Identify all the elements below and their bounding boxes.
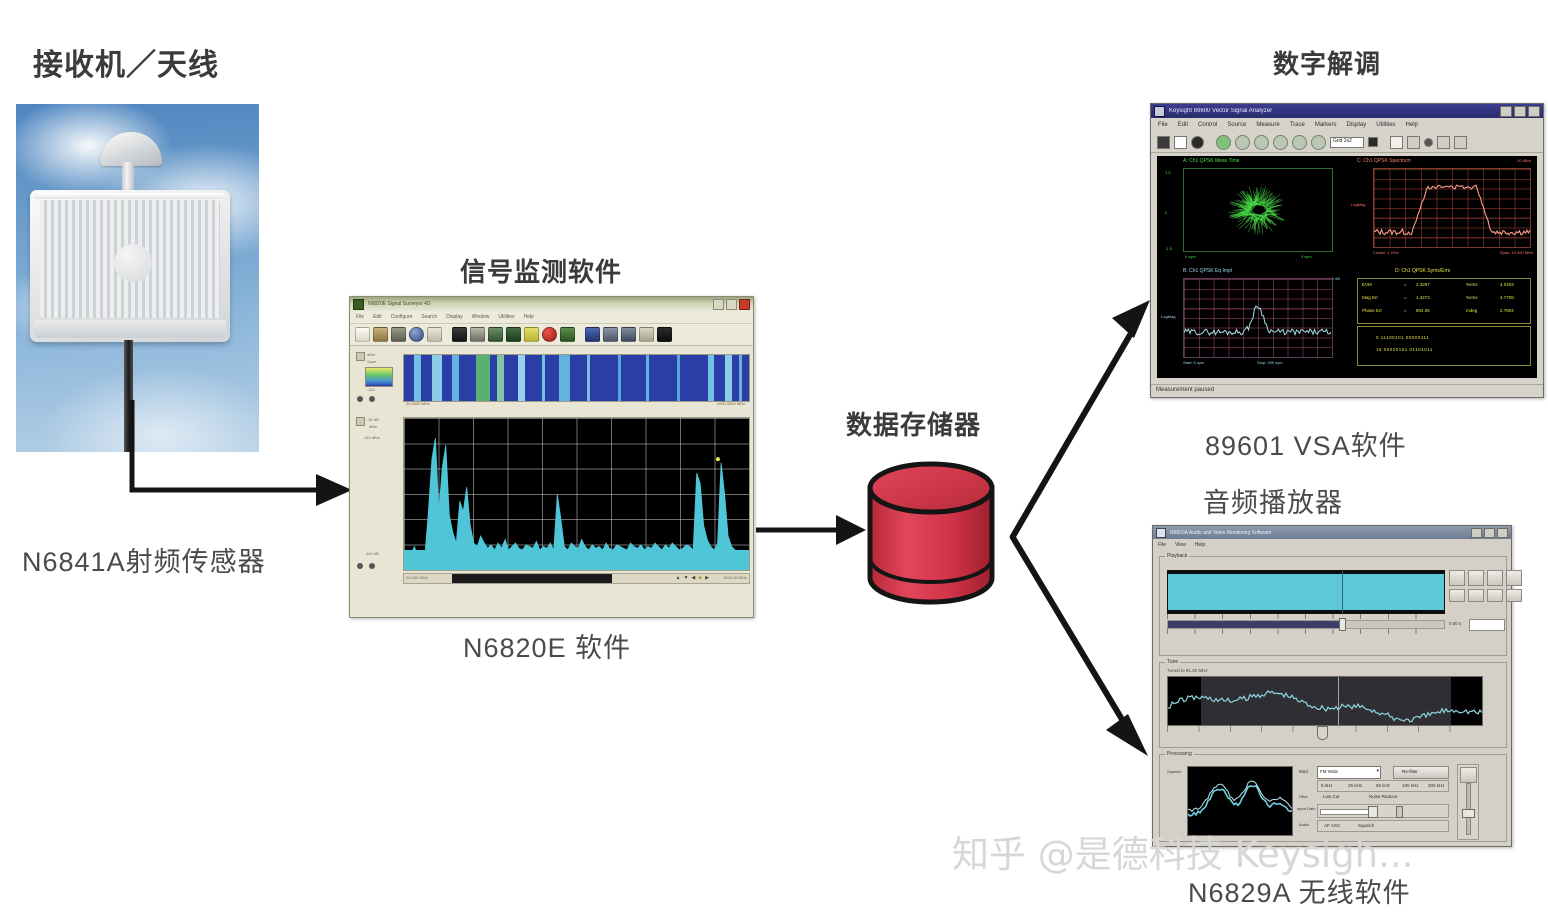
waterfall-signal-stripe — [739, 355, 742, 401]
waterfall-signal-stripe — [432, 355, 442, 401]
minimize-button[interactable] — [713, 299, 724, 310]
tune-group-label: Tune — [1165, 659, 1180, 665]
label-n6841a-rf-sensor: N6841A射频传感器 — [22, 540, 266, 579]
n6820e-statusbar[interactable]: 20.000 MHz ▲ ▼ ◀ ◆ ▶ 1000.00 MHz — [403, 573, 750, 584]
waterfall-display[interactable] — [403, 354, 750, 402]
save-icon[interactable] — [391, 327, 406, 342]
vsa-b-xstop: Stop: 200 sym — [1257, 360, 1283, 365]
bw-opt-4[interactable]: 200 kHz — [1428, 783, 1445, 788]
title-signal-monitoring-software: 信号监测软件 — [460, 252, 622, 289]
rewind-icon[interactable] — [1449, 570, 1465, 586]
n6820e-toolbar[interactable] — [350, 324, 753, 346]
flag-icon[interactable] — [524, 327, 539, 342]
playback-time-left: 0.00 s — [1449, 621, 1461, 626]
playback-ruler-2 — [1167, 629, 1443, 634]
filter-opt-0[interactable]: Low Cut — [1323, 794, 1340, 799]
vsa-a-ylabel-mid: 0 — [1165, 210, 1167, 215]
processing-squelch-label: Squelch — [1167, 769, 1181, 774]
waterfall-freq-start: 20.0000 MHz — [406, 401, 430, 411]
cable-arrow-sensor-to-n6820e — [100, 400, 360, 540]
waterfall-signal-stripe — [497, 355, 504, 401]
processing-refilter-button[interactable]: Re-filter — [1393, 766, 1449, 779]
vsa-c-ylabel: LogMag — [1351, 202, 1365, 207]
screen-icon[interactable] — [1407, 136, 1420, 149]
spectrum-trace — [404, 418, 749, 570]
vsa-b-spectrum-plot — [1184, 279, 1332, 357]
title-digital-demodulation: 数字解调 — [1273, 44, 1381, 81]
vsa-a-xstop: 3 sym — [1301, 254, 1312, 259]
spectrum-display[interactable] — [403, 417, 750, 571]
vsa-b-ylabel: LogMag — [1161, 314, 1175, 319]
antenna-icon[interactable] — [427, 327, 442, 342]
waterfall-signal-stripe — [452, 355, 459, 401]
audio-close-button[interactable] — [1497, 528, 1508, 538]
menu-utilities[interactable]: Utilities — [498, 314, 514, 320]
vsa-trace-d-title: D: Ch1 QPSK Syms/Errs — [1395, 268, 1450, 274]
processing-bandwidth-row[interactable]: 6 kHz 25 kHz 50 kHz 100 kHz 200 kHz — [1317, 780, 1449, 792]
waterfall-signal-stripe — [414, 355, 421, 401]
tune-trace — [1168, 677, 1482, 725]
arrow-datastore-to-vsa — [1006, 300, 1156, 550]
vsa-toolbar[interactable]: Grid 2x2 — [1151, 132, 1543, 153]
processing-volume-slider[interactable] — [1457, 764, 1479, 840]
vsa-menu-file[interactable]: File — [1158, 122, 1168, 128]
spectrum-zoom-in-icon[interactable] — [369, 563, 375, 569]
spectrum-zoom-out-icon[interactable] — [357, 563, 363, 569]
processing-gain-slider[interactable] — [1317, 804, 1449, 818]
measurement-icon-4[interactable] — [1273, 135, 1288, 150]
pencil-icon[interactable] — [657, 327, 672, 342]
label-audio-player: 音频播放器 — [1203, 481, 1343, 520]
wrench-icon[interactable] — [470, 327, 485, 342]
rows-icon[interactable] — [1454, 136, 1467, 149]
panel-icon[interactable] — [585, 327, 600, 342]
record-icon[interactable] — [1487, 570, 1503, 586]
n6820e-menubar[interactable]: File Edit Configure Search Display Windo… — [350, 311, 753, 324]
label-89601-vsa-software: 89601 VSA软件 — [1205, 424, 1407, 463]
menu-file[interactable]: File — [356, 314, 364, 320]
vsa-a-ylabel-top: 1.5 — [1165, 170, 1171, 175]
arrow-n6820e-to-datastore — [756, 510, 866, 550]
sensor-connector-panel — [34, 320, 226, 338]
vsa-meas-1-value: 1.4273 — [1416, 295, 1430, 300]
stop-icon[interactable] — [560, 327, 575, 342]
grid-icon[interactable] — [506, 327, 521, 342]
processing-mode-label: Mod — [1299, 769, 1308, 774]
audio-titlebar[interactable]: N6829A Audio and Video Monitoring Softwa… — [1153, 526, 1511, 539]
tune-slider-knob[interactable] — [1317, 726, 1328, 740]
vsa-menu-utilities[interactable]: Utilities — [1376, 122, 1395, 128]
bw-opt-3[interactable]: 100 kHz — [1402, 783, 1419, 788]
vsa-menu-edit[interactable]: Edit — [1178, 122, 1188, 128]
waterfall-signal-stripe — [587, 355, 590, 401]
audio-app-icon — [1156, 528, 1166, 538]
apply-layout-icon[interactable] — [1368, 137, 1378, 147]
processing-mode-select[interactable]: FM Wide ▾ — [1317, 766, 1381, 779]
vsa-title-text: Keysight 89600 Vector Signal Analyzer — [1169, 108, 1272, 114]
vsa-app-icon — [1154, 106, 1165, 117]
title-receiver: 接收机／天线 — [33, 40, 219, 84]
sensor-center-hub — [114, 244, 152, 282]
panel-collapse-icon-2[interactable] — [356, 417, 365, 426]
audio-maximize-button[interactable] — [1484, 528, 1495, 538]
vsa-a-xstart: 0 sym — [1185, 254, 1196, 259]
waterfall-signal-stripe — [618, 355, 621, 401]
audio-player-window[interactable]: N6829A Audio and Video Monitoring Softwa… — [1152, 525, 1512, 847]
maximize-button[interactable] — [726, 299, 737, 310]
window-icon[interactable] — [603, 327, 618, 342]
layout-select[interactable]: Grid 2x2 — [1330, 137, 1364, 148]
next-icon[interactable] — [1506, 589, 1522, 602]
processing-refilter-label: Re-filter — [1402, 769, 1418, 774]
vsa-trace-a-title: A: Ch1 QPSK Meas Time — [1183, 158, 1239, 164]
watermark: 知乎 @是德科技 Keysigh... — [952, 824, 1413, 878]
vsa-meas-2-value2: 2.7804 — [1500, 308, 1514, 313]
speaker-icon[interactable] — [1460, 767, 1477, 783]
vsa-meas-0-value: 2.3287 — [1416, 282, 1430, 287]
vsa-meas-1-eq: = — [1404, 295, 1407, 300]
vsa-meas-1-value2: 4.7708 — [1500, 295, 1514, 300]
audio-menu-file[interactable]: File — [1158, 542, 1166, 548]
play-icon[interactable] — [1157, 136, 1170, 149]
measurement-icon-5[interactable] — [1292, 135, 1307, 150]
vsa-c-xstart: Center: 1 GHz — [1373, 250, 1399, 255]
pause-icon[interactable] — [1174, 136, 1187, 149]
vsa-meas-0-eq: = — [1404, 282, 1407, 287]
menu-edit[interactable]: Edit — [373, 314, 382, 320]
vsa-trace-a[interactable]: A: Ch1 QPSK Meas Time 1.5 0 -1.5 0 sym 3… — [1161, 158, 1346, 266]
play-icon[interactable] — [1468, 570, 1484, 586]
list-icon[interactable] — [452, 327, 467, 342]
record-icon[interactable] — [1191, 136, 1204, 149]
open-icon[interactable] — [373, 327, 388, 342]
stop-icon[interactable] — [1506, 570, 1522, 586]
globe-icon[interactable] — [409, 327, 424, 342]
vsa-menu-markers[interactable]: Markers — [1315, 122, 1337, 128]
waterfall-signal-stripe — [708, 355, 715, 401]
vsa-meas-1-unit: %rms — [1466, 295, 1478, 300]
vsa-menu-measure[interactable]: Measure — [1256, 122, 1279, 128]
bw-opt-1[interactable]: 25 kHz — [1348, 783, 1362, 788]
constellation-plot — [1184, 169, 1332, 251]
vsa-trace-b[interactable]: B: Ch1 QPSK Eq Impl 0 dB LogMag Start: 0… — [1161, 268, 1346, 376]
waterfall-signal-stripe — [476, 355, 490, 401]
dome-antenna-icon — [100, 132, 162, 166]
audio-minimize-button[interactable] — [1471, 528, 1482, 538]
audio-menu-help[interactable]: Help — [1195, 542, 1205, 548]
menu-window[interactable]: Window — [472, 314, 490, 320]
waterfall-signal-stripe — [677, 355, 680, 401]
vsa-trace-b-title: B: Ch1 QPSK Eq Impl — [1183, 268, 1232, 274]
vsa-menu-source[interactable]: Source — [1227, 122, 1246, 128]
vsa-b-ref: 0 dB — [1332, 276, 1340, 281]
vsa-window[interactable]: Keysight 89600 Vector Signal Analyzer Fi… — [1150, 103, 1544, 398]
waterfall-signal-stripe — [725, 355, 732, 401]
bw-opt-2[interactable]: 50 kHz — [1376, 783, 1390, 788]
transport-buttons[interactable] — [1449, 570, 1522, 586]
vsa-meas-0-name: EVM — [1362, 282, 1372, 287]
zoom-in-icon[interactable] — [369, 396, 375, 402]
bw-opt-0[interactable]: 6 kHz — [1321, 783, 1333, 788]
processing-filter-label: Filter — [1299, 794, 1308, 799]
vsa-trace-d[interactable]: D: Ch1 QPSK Syms/Errs EVM = 2.3287 %rms … — [1351, 268, 1535, 376]
vsa-trace-c-title: C: Ch1 QPSK Spectrum — [1357, 158, 1411, 164]
mute-icon[interactable] — [1487, 589, 1503, 602]
waterfall-axis: 20.0000 MHz 1000.0000 MHz — [403, 401, 748, 411]
tune-waterfall[interactable] — [1167, 676, 1483, 726]
playback-slider[interactable] — [1167, 620, 1445, 629]
vsa-meas-0-unit: %rms — [1466, 282, 1478, 287]
waterfall-signal-stripe — [646, 355, 649, 401]
record-icon[interactable] — [542, 327, 557, 342]
vsa-maximize-button[interactable] — [1514, 106, 1526, 117]
vsa-symbols-row-0: 0 11100101 00000111 — [1376, 335, 1429, 340]
vsa-statusbar: Measurement paused — [1151, 384, 1543, 397]
n6820e-titlebar[interactable]: N6820E Signal Surveyor 4D — [350, 297, 753, 311]
vsa-menu-control[interactable]: Control — [1198, 122, 1217, 128]
playback-time-field[interactable] — [1469, 619, 1505, 631]
menu-search[interactable]: Search — [421, 314, 437, 320]
menu-help[interactable]: Help — [524, 314, 534, 320]
chevron-down-icon[interactable]: ▾ — [1376, 768, 1379, 774]
layout-icon[interactable] — [621, 327, 636, 342]
vsa-meas-2-eq: = — [1404, 308, 1407, 313]
n6820e-window[interactable]: N6820E Signal Surveyor 4D File Edit Conf… — [349, 296, 754, 618]
tune-readout: Tuned to 91.30 MHz — [1167, 668, 1208, 673]
vsa-a-ylabel-bot: -1.5 — [1165, 246, 1172, 251]
vsa-meas-1-name: Mag Err — [1362, 295, 1378, 300]
loop-icon[interactable] — [1468, 589, 1484, 602]
vsa-meas-2-unit: mdeg — [1466, 308, 1477, 313]
zoom-out-icon[interactable] — [357, 396, 363, 402]
vsa-c-spectrum-plot — [1374, 169, 1530, 247]
waterfall-signal-stripe — [518, 355, 525, 401]
vsa-titlebar[interactable]: Keysight 89600 Vector Signal Analyzer — [1151, 104, 1543, 118]
color-scale-icon — [365, 367, 393, 387]
vsa-display-area[interactable]: A: Ch1 QPSK Meas Time 1.5 0 -1.5 0 sym 3… — [1157, 156, 1537, 378]
vsa-b-xstart: Start: 0 sym — [1183, 360, 1204, 365]
vsa-meas-2-name: Phase Err — [1362, 308, 1382, 313]
prev-icon[interactable] — [1449, 589, 1465, 602]
filter-opt-1[interactable]: Noise Reduce — [1369, 794, 1397, 799]
vsa-menubar[interactable]: File Edit Control Source Measure Trace M… — [1151, 118, 1543, 132]
measurement-icon-2[interactable] — [1235, 135, 1250, 150]
measurement-icon-1[interactable] — [1216, 135, 1231, 150]
vsa-symbols-row-1: 16 00020101 01101011 — [1376, 347, 1433, 352]
label-n6820e-software: N6820E 软件 — [463, 626, 631, 665]
vsa-meas-0-value2: 4.0403 — [1500, 282, 1514, 287]
playback-group-label: Playback — [1165, 553, 1189, 559]
vsa-trace-c[interactable]: C: Ch1 QPSK Spectrum -10 dBm LogMag Cent… — [1351, 158, 1535, 266]
vsa-minimize-button[interactable] — [1500, 106, 1512, 117]
pointer-icon[interactable] — [355, 327, 370, 342]
marker-icon[interactable] — [1390, 136, 1403, 149]
table-icon[interactable] — [488, 327, 503, 342]
audio-menu-view[interactable]: View — [1175, 542, 1186, 548]
vsa-c-xstop: Span: 10.000 MHz — [1500, 250, 1533, 255]
n6820e-title-text: N6820E Signal Surveyor 4D — [368, 301, 431, 307]
spectrum-panel-legend: -30 dB dBm -110 dBm -110 dB — [355, 417, 400, 572]
close-button[interactable] — [739, 299, 750, 310]
app-icon — [353, 299, 364, 310]
columns-icon[interactable] — [1437, 136, 1450, 149]
measurement-icon-6[interactable] — [1311, 135, 1326, 150]
data-store-cylinder — [856, 460, 1006, 610]
panel-collapse-icon[interactable] — [356, 352, 365, 361]
processing-filter-row[interactable]: Low Cut Noise Reduce — [1317, 792, 1447, 802]
audio-title-text: N6829A Audio and Video Monitoring Softwa… — [1170, 530, 1271, 536]
vsa-menu-help[interactable]: Help — [1406, 122, 1418, 128]
audio-menubar[interactable]: File View Help — [1153, 539, 1511, 550]
menu-display[interactable]: Display — [446, 314, 462, 320]
playback-waveform[interactable] — [1167, 570, 1445, 614]
dot-icon[interactable] — [1424, 138, 1433, 147]
waterfall-panel-legend: dBm Span -110 — [355, 352, 400, 410]
arrow-datastore-to-audio — [1006, 530, 1156, 760]
processing-group-label: Processing — [1165, 751, 1194, 757]
waterfall-signal-stripe — [542, 355, 545, 401]
title-data-store: 数据存储器 — [846, 405, 981, 442]
vsa-c-ref: -10 dBm — [1516, 158, 1531, 163]
vsa-menu-trace[interactable]: Trace — [1290, 122, 1305, 128]
processing-gain-label: Input Gain — [1297, 806, 1317, 811]
waterfall-freq-stop: 1000.0000 MHz — [717, 401, 745, 411]
measurement-icon-3[interactable] — [1254, 135, 1269, 150]
vsa-menu-display[interactable]: Display — [1347, 122, 1367, 128]
vsa-meas-2-value: 804.05 — [1416, 308, 1430, 313]
playback-ruler — [1167, 614, 1443, 619]
waterfall-signal-stripe — [559, 355, 569, 401]
lock-icon[interactable] — [639, 327, 654, 342]
menu-configure[interactable]: Configure — [391, 314, 413, 320]
aux-buttons[interactable] — [1449, 589, 1522, 602]
vsa-close-button[interactable] — [1528, 106, 1540, 117]
window-controls[interactable] — [713, 299, 750, 310]
processing-mode-value: FM Wide — [1320, 769, 1338, 774]
